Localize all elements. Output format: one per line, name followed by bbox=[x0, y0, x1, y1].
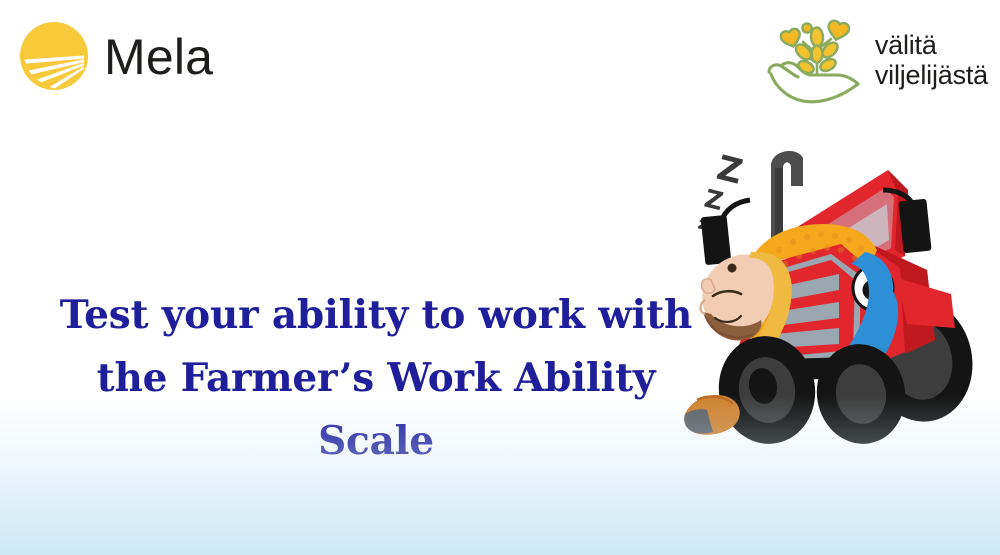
page-title-line-2: the Farmer’s Work Ability Scale bbox=[46, 347, 706, 473]
valita-line-2: viljelijästä bbox=[875, 60, 988, 90]
valita-viljelijasta-wordmark: välitä viljelijästä bbox=[875, 30, 988, 90]
mela-wordmark: Mela bbox=[104, 32, 213, 82]
page-title-line-1: Test your ability to work with bbox=[46, 284, 706, 347]
valita-viljelijasta-logo: välitä viljelijästä bbox=[765, 10, 988, 110]
fallen-boot bbox=[684, 395, 739, 435]
sleeping-farmer-on-tractor-illustration: Z Z z bbox=[655, 128, 1000, 458]
hand-holding-plant-icon bbox=[765, 10, 869, 110]
slide-root: Mela bbox=[0, 0, 1000, 555]
page-title: Test your ability to work with the Farme… bbox=[46, 284, 706, 474]
sun-over-field-icon bbox=[18, 20, 90, 92]
valita-line-1: välitä bbox=[875, 30, 988, 60]
mela-logo: Mela bbox=[18, 20, 213, 92]
svg-text:Z: Z bbox=[702, 184, 727, 217]
